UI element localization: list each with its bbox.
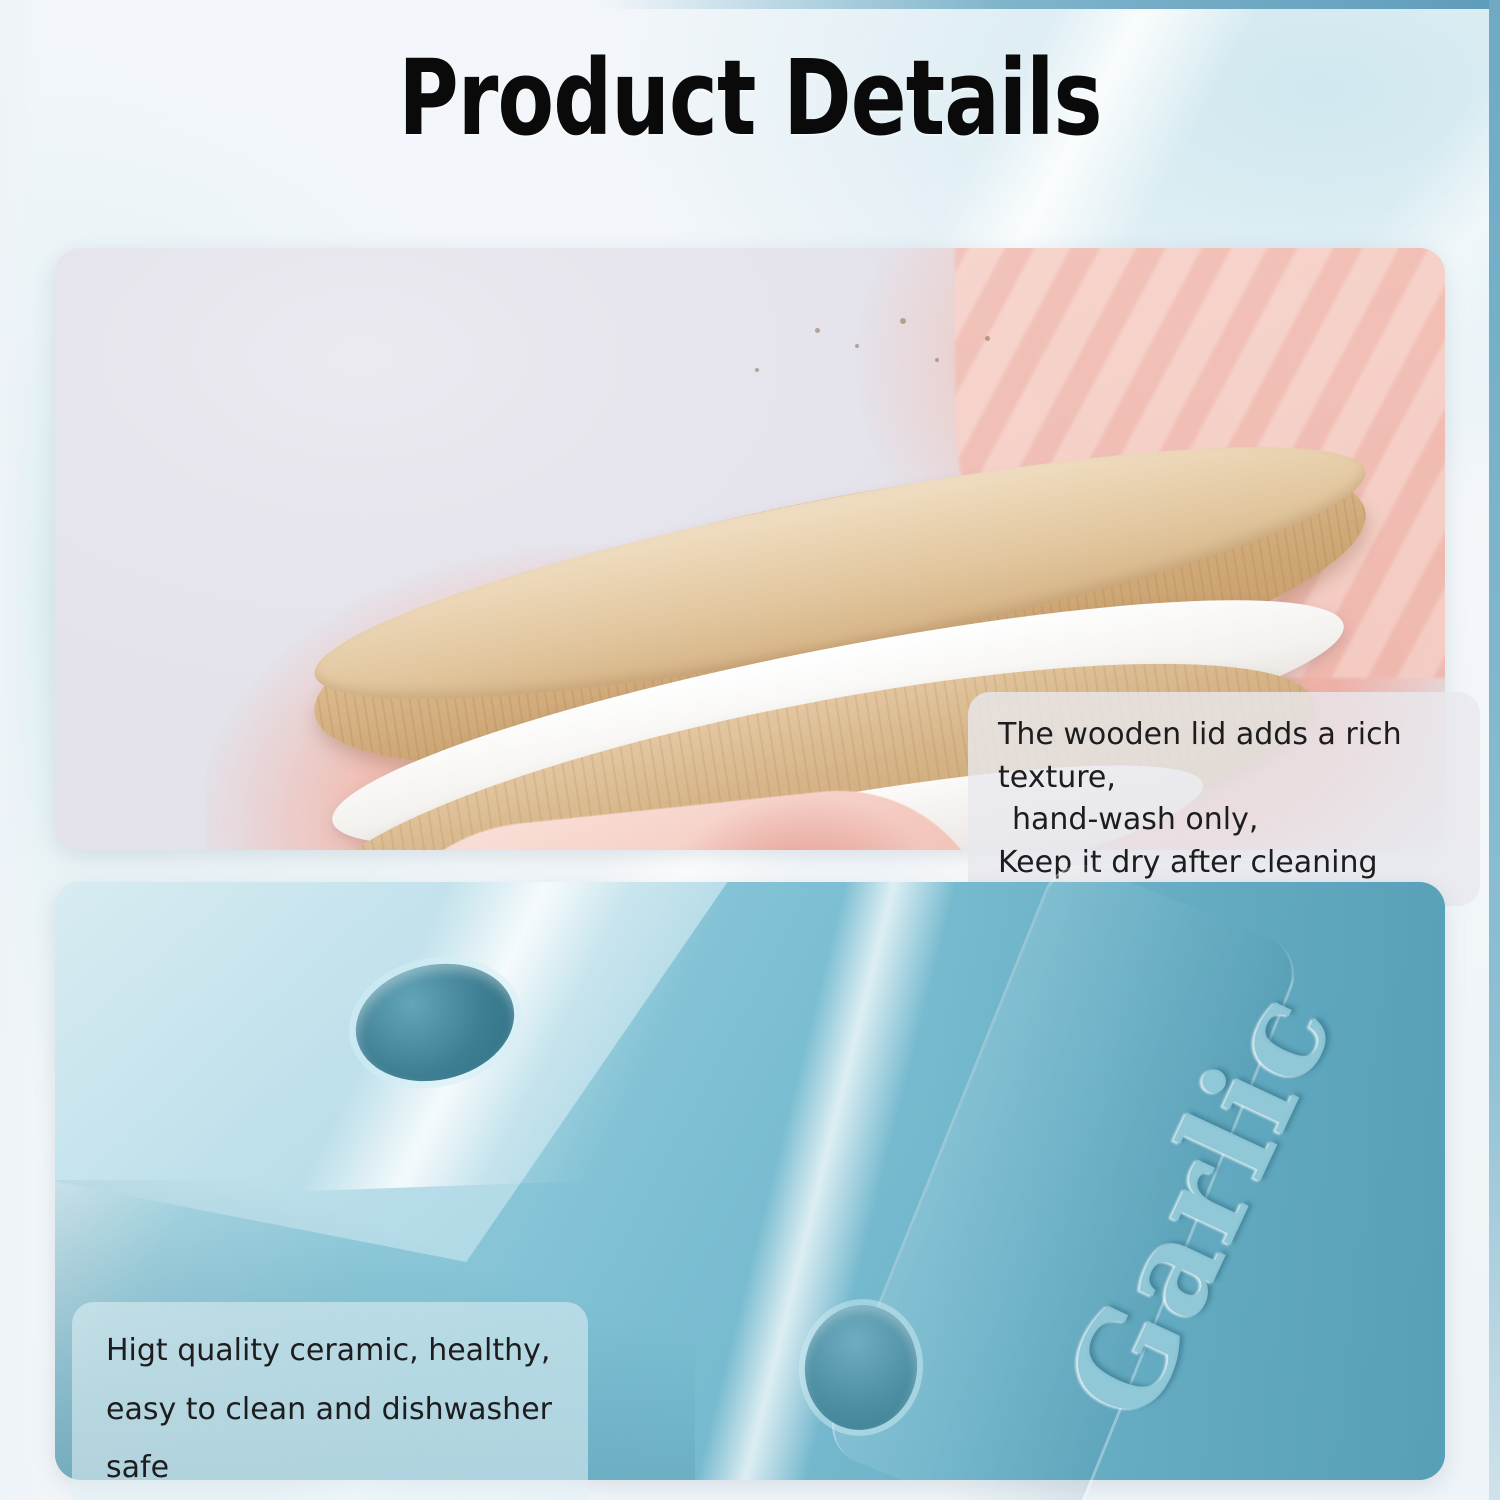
right-edge-stripe (1489, 0, 1500, 1500)
wood-speck (815, 328, 820, 333)
ceramic-jar-caption: Higt quality ceramic, healthy, easy to c… (72, 1302, 588, 1500)
wooden-lid-caption: The wooden lid adds a rich texture, hand… (968, 692, 1480, 906)
caption1-line2: hand-wash only, (998, 799, 1450, 842)
wood-speck (935, 358, 939, 362)
wood-speck (755, 368, 759, 372)
top-edge-stripe (600, 0, 1500, 9)
left-edge-fade (0, 0, 40, 1500)
caption1-line1: The wooden lid adds a rich texture, (998, 714, 1450, 799)
product-details-page: Product Details The wooden lid adds a ri… (0, 0, 1500, 1500)
wood-speck (900, 318, 906, 324)
wood-speck (855, 344, 859, 348)
page-title: Product Details (90, 44, 1410, 153)
caption2-line2: easy to clean and dishwasher safe (106, 1381, 554, 1498)
caption2-line1: Higt quality ceramic, healthy, (106, 1322, 554, 1381)
wood-speck (985, 336, 990, 341)
